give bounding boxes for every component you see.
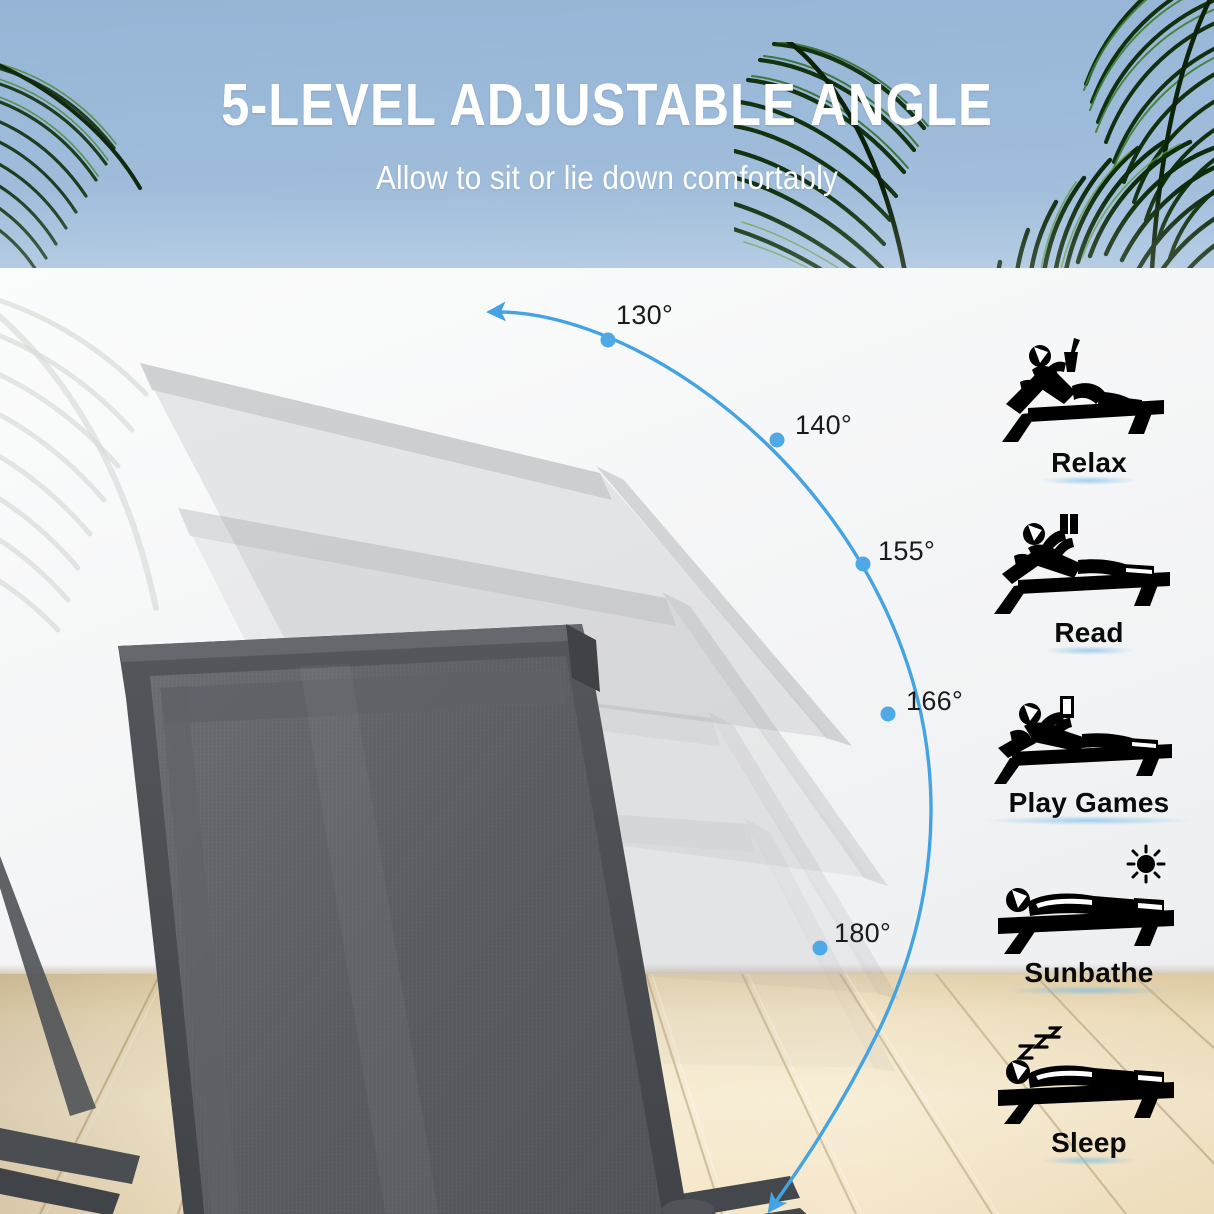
angle-label-155: 155° bbox=[878, 536, 935, 567]
person-lying-flat-with-sun-on-lounger-icon bbox=[994, 840, 1184, 955]
usage-mode-sleep: Sleep bbox=[970, 1010, 1208, 1180]
banner-title: 5-LEVEL ADJUSTABLE ANGLE bbox=[85, 76, 1129, 135]
arc-dot-180 bbox=[813, 941, 828, 956]
usage-mode-play-games: Play Games bbox=[970, 670, 1208, 840]
usage-mode-label-read: Read bbox=[1054, 617, 1123, 649]
arc-path bbox=[490, 312, 931, 1210]
banner-subtitle: Allow to sit or lie down comfortably bbox=[61, 161, 1154, 194]
angle-label-180: 180° bbox=[834, 918, 891, 949]
arc-dot-166 bbox=[881, 707, 896, 722]
usage-mode-label-sleep: Sleep bbox=[1051, 1127, 1127, 1159]
angle-label-140: 140° bbox=[795, 410, 852, 441]
person-lying-flat-sleeping-zzz-on-lounger-icon bbox=[994, 1010, 1184, 1125]
usage-mode-label-sunbathe: Sunbathe bbox=[1024, 957, 1153, 989]
arc-dot-155 bbox=[856, 557, 871, 572]
arc-dot-140 bbox=[770, 433, 785, 448]
angle-label-166: 166° bbox=[906, 686, 963, 717]
usage-mode-label-play-games: Play Games bbox=[1009, 787, 1170, 819]
product-photo-stage: 130° 140° 155° 166° 180° bbox=[0, 268, 1214, 1214]
header-banner: 5-LEVEL ADJUSTABLE ANGLE Allow to sit or… bbox=[0, 0, 1214, 268]
usage-modes-list: Relax bbox=[970, 330, 1208, 1180]
person-reclining-with-phone-on-lounger-icon bbox=[994, 670, 1184, 785]
person-reclining-reading-book-on-lounger-icon bbox=[994, 500, 1184, 615]
usage-mode-read: Read bbox=[970, 500, 1208, 670]
usage-mode-sunbathe: Sunbathe bbox=[970, 840, 1208, 1010]
usage-mode-label-relax: Relax bbox=[1051, 447, 1127, 479]
person-reclining-with-drink-on-lounger-icon bbox=[994, 330, 1184, 445]
arc-dot-130 bbox=[601, 333, 616, 348]
usage-mode-relax: Relax bbox=[970, 330, 1208, 500]
angle-label-130: 130° bbox=[616, 300, 673, 331]
